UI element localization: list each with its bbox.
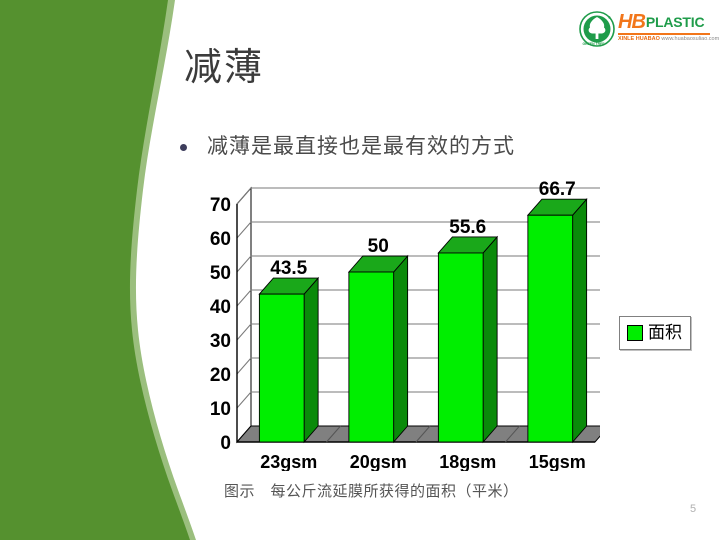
bar-value-label: 50 [368,236,389,257]
page-title: 减薄 [184,44,264,90]
chart-caption: 图示 每公斤流延膜所获得的面积（平米） [224,480,519,501]
bullet-item-label: 减薄是最直接也是最有效的方式 [207,132,515,160]
svg-text:®: ® [608,15,611,20]
bullet-dot-icon [180,144,187,151]
bar-chart-canvas: 01020304050607043.523gsm5020gsm55.618gsm… [205,176,600,471]
bar-23gsm [259,294,304,442]
slide-canvas: GREEN TREE ® HBPLASTIC XINLE HUABAO www.… [0,0,720,540]
y-axis-tick-label: 40 [210,297,231,318]
x-axis-category-label: 23gsm [260,452,317,471]
logo-divider-rule [618,33,710,35]
logo-subtitle: XINLE HUABAO www.huabaosuliao.com [618,36,714,42]
bar-18gsm [438,253,483,442]
bar-value-label: 43.5 [270,258,307,279]
x-axis-category-label: 15gsm [529,452,586,471]
logo-hb-text: HB [618,12,645,32]
y-axis-tick-label: 20 [210,365,231,386]
y-axis-tick-label: 0 [220,433,231,454]
page-number: 5 [690,503,696,515]
bar-chart: 01020304050607043.523gsm5020gsm55.618gsm… [205,176,600,471]
legend-label-area: 面积 [648,325,682,342]
y-axis-tick-label: 50 [210,263,231,284]
logo-wordmark: HBPLASTIC [618,12,712,32]
bar-20gsm [349,272,394,442]
y-axis-tick-label: 60 [210,229,231,250]
bar-value-label: 66.7 [539,179,576,200]
chart-legend: 面积 [619,316,691,350]
green-tree-emblem-icon: GREEN TREE ® [578,10,616,48]
x-axis-category-label: 20gsm [350,452,407,471]
y-axis-tick-label: 10 [210,399,231,420]
bullet-item: 减薄是最直接也是最有效的方式 [180,132,515,160]
legend-swatch-area [627,325,643,341]
bar-15gsm [528,215,573,442]
logo-url-text: www.huabaosuliao.com [661,36,719,42]
y-axis-tick-label: 70 [210,195,231,216]
logo-subtitle-text: XINLE HUABAO [618,36,660,42]
svg-text:GREEN TREE: GREEN TREE [583,42,606,46]
x-axis-category-label: 18gsm [439,452,496,471]
company-logo: GREEN TREE ® HBPLASTIC XINLE HUABAO www.… [578,8,712,52]
logo-plastic-text: PLASTIC [646,12,705,32]
bar-value-label: 55.6 [449,217,486,238]
y-axis-tick-label: 30 [210,331,231,352]
